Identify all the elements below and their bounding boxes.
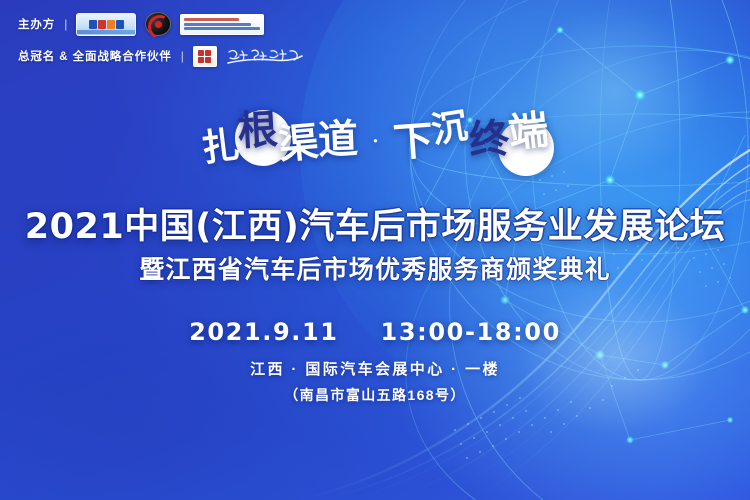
calligraphy-char-1: 扎: [200, 125, 241, 166]
auto-parts-logo-mark: [89, 20, 124, 29]
event-venue: 江西 · 国际汽车会展中心 · 一楼: [0, 358, 750, 379]
red-seal-logo-icon: [193, 46, 217, 67]
event-poster: 主办方 | 总冠名 & 全面战略合作伙伴: [0, 0, 750, 500]
title-sponsor-logo-strip: [193, 46, 304, 67]
calligraphy-char-4: 道: [318, 119, 359, 160]
calligraphy-char-8: 端: [506, 110, 550, 154]
calligraphy-char-2: 根: [237, 110, 279, 152]
organizer-logo-strip: [76, 12, 264, 36]
cawp-logo-icon: [145, 12, 171, 36]
main-title: 2021中国(江西)汽车后市场服务业发展论坛: [0, 198, 750, 249]
organizer-separator: |: [64, 17, 67, 31]
event-time: 13:00-18:00: [381, 318, 561, 346]
event-date: 2021.9.11: [189, 318, 339, 346]
organizer-label: 主办方: [18, 16, 55, 32]
calligraphy-char-3: 渠: [277, 122, 320, 165]
association-plate-logo-icon: [180, 14, 264, 35]
auto-parts-logo-underbar: [77, 30, 135, 34]
title-sponsor-separator: |: [181, 49, 184, 63]
calligraphy-inner: 扎 根 渠 道 · 下 沉 终 端: [201, 118, 548, 158]
university-script-logo-icon: [226, 46, 304, 67]
calligraphy-slogan: 扎 根 渠 道 · 下 沉 终 端: [0, 92, 750, 184]
calligraphy-char-6: 沉: [428, 108, 469, 149]
event-address: （南昌市富山五路168号）: [0, 385, 750, 405]
calligraphy-char-7: 终: [467, 119, 510, 162]
title-sponsor-label: 总冠名 & 全面战略合作伙伴: [18, 48, 172, 64]
credit-row-title-sponsor: 总冠名 & 全面战略合作伙伴 |: [18, 43, 304, 69]
cawp-logo-arc: [145, 12, 176, 43]
calligraphy-separator: ·: [371, 127, 379, 157]
sponsor-credits-bar: 主办方 | 总冠名 & 全面战略合作伙伴: [18, 11, 304, 75]
calligraphy-char-5: 下: [392, 121, 435, 164]
sub-title: 暨江西省汽车后市场优秀服务商颁奖典礼: [0, 250, 750, 286]
auto-parts-logo-icon: [76, 13, 136, 36]
credit-row-organizer: 主办方 |: [18, 11, 304, 37]
event-datetime: 2021.9.11 13:00-18:00: [0, 318, 750, 346]
